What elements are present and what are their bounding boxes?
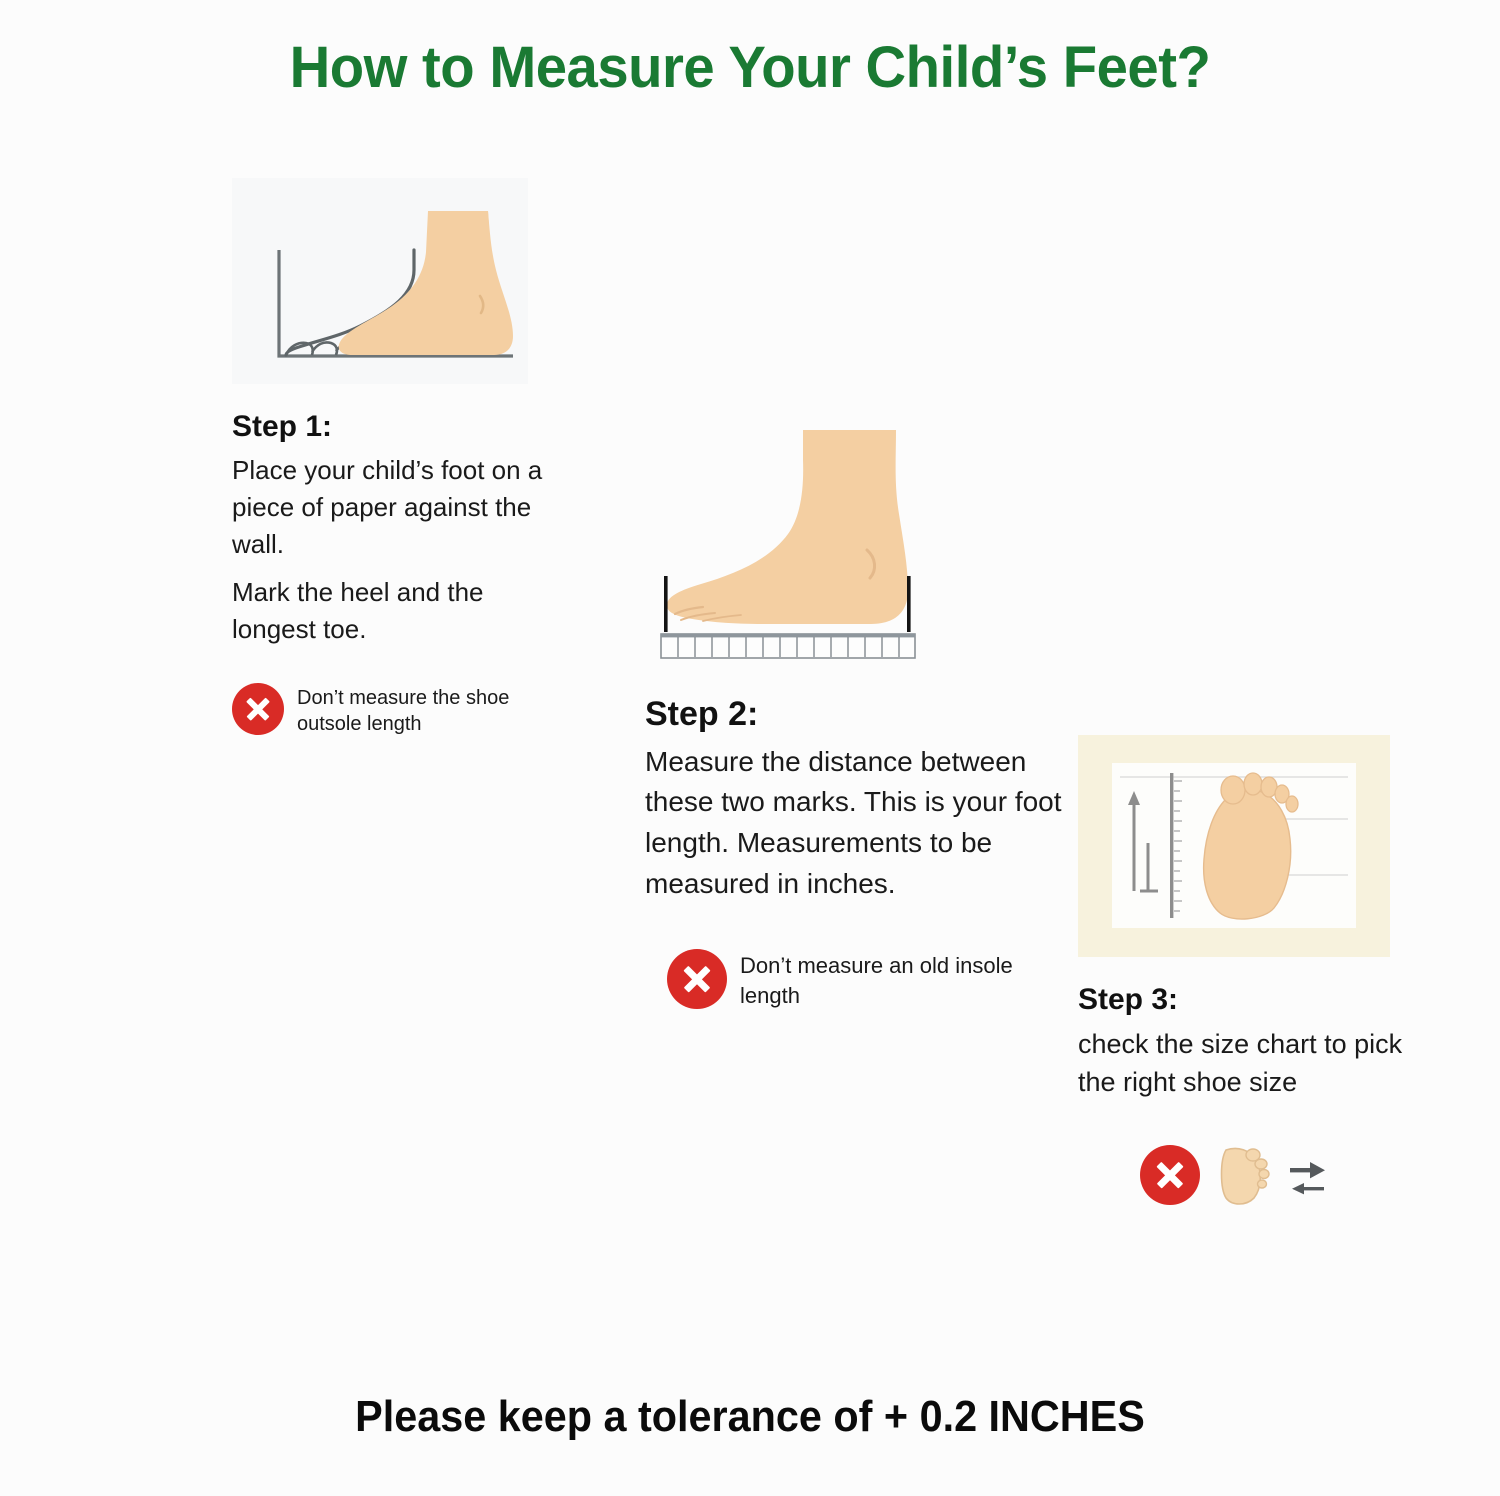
step-2-illustration bbox=[645, 418, 1075, 663]
step-3-illustration bbox=[1078, 735, 1408, 957]
step-2-block: Step 2: Measure the distance between the… bbox=[645, 418, 1075, 1011]
step-2-heading: Step 2: bbox=[645, 693, 1075, 736]
step-1-warning-text: Don’t measure the shoe outsole length bbox=[297, 683, 552, 739]
paper-sheet bbox=[1112, 763, 1356, 928]
step-3-body-line-1: check the size chart to pick the right s… bbox=[1078, 1025, 1408, 1103]
step-2-warning: Don’t measure an old insole length bbox=[667, 949, 1075, 1011]
step-1-heading: Step 1: bbox=[232, 408, 552, 446]
step-1-illustration bbox=[232, 178, 552, 384]
step-1-body-line-2: Mark the heel and the longest toe. bbox=[232, 574, 552, 649]
foot-sole-icon bbox=[1216, 1142, 1272, 1208]
step-3-block: Step 3: check the size chart to pick the… bbox=[1078, 735, 1408, 1208]
step-1-body-line-1: Place your child’s foot on a piece of pa… bbox=[232, 452, 552, 564]
foot-side-view-with-ruler-icon bbox=[653, 418, 953, 663]
foot-side-view-against-wall-icon bbox=[232, 178, 528, 384]
red-x-icon bbox=[1140, 1145, 1200, 1205]
step-1-block: Step 1: Place your child’s foot on a pie… bbox=[232, 178, 552, 738]
tolerance-note: Please keep a tolerance of + 0.2 INCHES bbox=[45, 1392, 1455, 1442]
step-2-body: Measure the distance between these two m… bbox=[645, 742, 1075, 906]
arrow-pair bbox=[1288, 1149, 1328, 1201]
arrow-left-icon bbox=[1292, 1183, 1324, 1194]
step-2-warning-text: Don’t measure an old insole length bbox=[740, 949, 1075, 1011]
step-3-body: check the size chart to pick the right s… bbox=[1078, 1025, 1408, 1103]
page-title: How to Measure Your Child’s Feet? bbox=[23, 34, 1478, 101]
red-x-icon bbox=[667, 949, 727, 1009]
infographic-page: How to Measure Your Child’s Feet? bbox=[0, 0, 1500, 1496]
step-3-heading: Step 3: bbox=[1078, 981, 1408, 1019]
step-3-warning bbox=[1140, 1142, 1408, 1208]
step-1-warning: Don’t measure the shoe outsole length bbox=[232, 683, 552, 739]
red-x-icon bbox=[232, 683, 284, 735]
step-1-body: Place your child’s foot on a piece of pa… bbox=[232, 452, 552, 649]
arrow-right-icon bbox=[1290, 1162, 1325, 1178]
foot-sole-on-paper-with-ruler-icon bbox=[1078, 735, 1390, 957]
step-2-body-line-1: Measure the distance between these two m… bbox=[645, 742, 1075, 906]
